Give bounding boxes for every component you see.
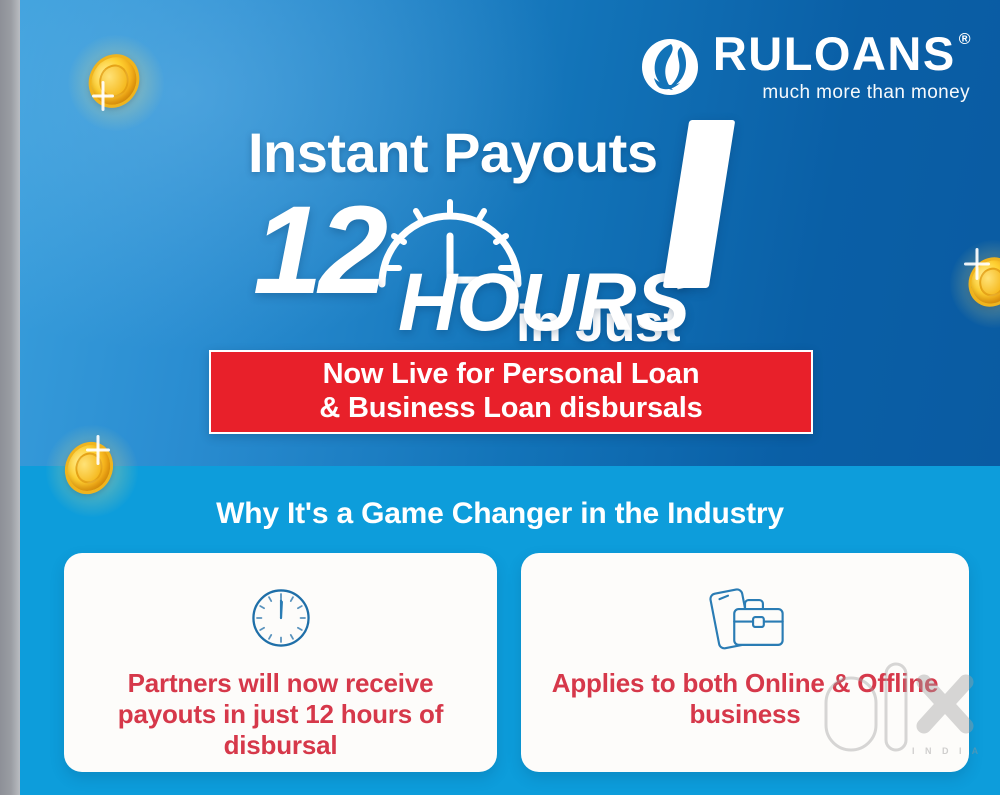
headline-hours: HOURS (398, 262, 689, 344)
promotional-poster: RULOANS ® much more than money Instant P… (0, 0, 1000, 795)
brand-logo-text: RULOANS ® much more than money (713, 30, 972, 104)
feature-card-text: Applies to both Online & Offline busines… (521, 668, 969, 730)
feature-card: Applies to both Online & Offline busines… (521, 553, 969, 772)
brand-name-wrap: RULOANS ® (713, 30, 972, 77)
exclamation-mark-bar (663, 120, 736, 288)
gold-coin-mid-left (64, 443, 120, 499)
registered-trademark-symbol: ® (959, 32, 972, 48)
feature-card: Partners will now receive payouts in jus… (64, 553, 497, 772)
gold-coin-top-left (88, 55, 144, 111)
clock-icon (249, 582, 313, 654)
section-title-why-game-changer: Why It's a Game Changer in the Industry (0, 497, 1000, 531)
ruloans-swirl-icon (641, 38, 699, 96)
brand-tagline: much more than money (762, 82, 970, 104)
banner-line-2: & Business Loan disbursals (319, 392, 702, 426)
headline-number-12: 12 (253, 188, 384, 313)
feature-card-text: Partners will now receive payouts in jus… (64, 668, 497, 762)
headline-line-instant-payouts: Instant Payouts (248, 120, 657, 185)
brand-logo: RULOANS ® much more than money (641, 30, 972, 104)
brand-name: RULOANS (713, 30, 956, 77)
phone-briefcase-icon (702, 582, 788, 654)
headline-block: Instant Payouts (0, 108, 1000, 338)
banner-line-1: Now Live for Personal Loan (323, 358, 700, 392)
red-announcement-banner: Now Live for Personal Loan & Business Lo… (209, 350, 813, 434)
left-edge-strip (0, 0, 20, 795)
